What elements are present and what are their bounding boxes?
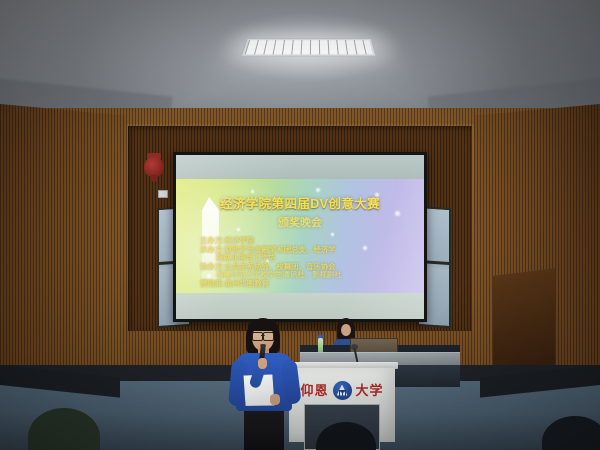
lantern-tassel xyxy=(151,175,157,182)
lectern-brand-left: 仰恩 xyxy=(300,384,328,397)
slide-title: 经济学院第四届DV创意大赛 xyxy=(176,193,424,212)
university-emblem-icon xyxy=(333,381,352,400)
lectern-branding: 仰恩 大学 xyxy=(289,379,395,401)
screen-bottom-band xyxy=(176,293,424,319)
seated-face xyxy=(341,324,351,336)
standing-presenter xyxy=(226,318,304,450)
slide-body-lines: 主办方:经济学院 承办方:财政学与金融学系团总支、经济学 院就业指导工作坊 协办… xyxy=(176,237,424,289)
auditorium-photo: 经济学院第四届DV创意大赛 颁奖晚会 主办方:经济学院 承办方:财政学与金融学系… xyxy=(0,0,600,450)
screen-top-band xyxy=(176,155,424,179)
presenter-hand-right xyxy=(270,394,280,405)
slide-subtitle: 颁奖晚会 xyxy=(176,214,424,230)
light-louvre-grid xyxy=(245,40,373,54)
projection-screen: 经济学院第四届DV创意大赛 颁奖晚会 主办方:经济学院 承办方:财政学与金融学系… xyxy=(173,152,427,322)
slide-line: 赞助商:泉州华图教育 xyxy=(200,280,400,289)
glasses-icon xyxy=(252,332,274,339)
glasses-lens-left xyxy=(252,332,263,341)
wall-switch[interactable] xyxy=(158,190,168,198)
presenter-fringe xyxy=(248,320,278,331)
lantern-body xyxy=(144,157,164,177)
presenter-skirt xyxy=(244,408,284,450)
glasses-lens-right xyxy=(263,332,274,341)
screen-surface: 经济学院第四届DV创意大赛 颁奖晚会 主办方:经济学院 承办方:财政学与金融学系… xyxy=(176,155,424,319)
lantern-icon xyxy=(143,152,165,182)
lectern-brand-right: 大学 xyxy=(356,384,384,397)
ceiling-light-icon xyxy=(241,38,377,56)
wall-recess-right xyxy=(493,268,555,376)
presenter-hand-left xyxy=(258,358,267,369)
